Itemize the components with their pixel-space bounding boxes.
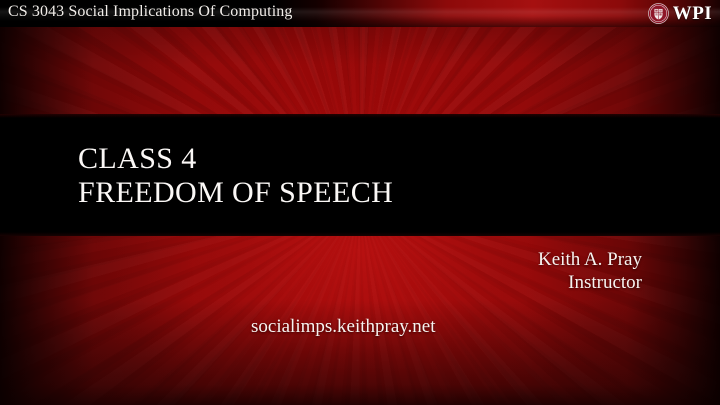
slide-header-bar: CS 3043 Social Implications Of Computing… xyxy=(0,0,720,27)
slide-title: CLASS 4 FREEDOM OF SPEECH xyxy=(78,142,393,209)
instructor-block: Keith A. Pray Instructor xyxy=(538,248,642,294)
slide-title-line-1: CLASS 4 xyxy=(78,142,197,175)
wpi-logo: WPI xyxy=(648,1,712,25)
title-band-bottom-edge xyxy=(0,232,720,236)
instructor-name: Keith A. Pray xyxy=(538,248,642,271)
wpi-seal-icon xyxy=(648,3,669,24)
instructor-role: Instructor xyxy=(538,271,642,294)
slide-title-line-2: FREEDOM OF SPEECH xyxy=(78,176,393,210)
title-band: CLASS 4 FREEDOM OF SPEECH xyxy=(0,114,720,236)
presentation-slide: CS 3043 Social Implications Of Computing… xyxy=(0,0,720,405)
course-site-url: socialimps.keithpray.net xyxy=(251,316,436,338)
course-title: CS 3043 Social Implications Of Computing xyxy=(8,3,292,21)
wpi-wordmark: WPI xyxy=(673,4,712,23)
title-band-top-edge xyxy=(0,114,720,118)
